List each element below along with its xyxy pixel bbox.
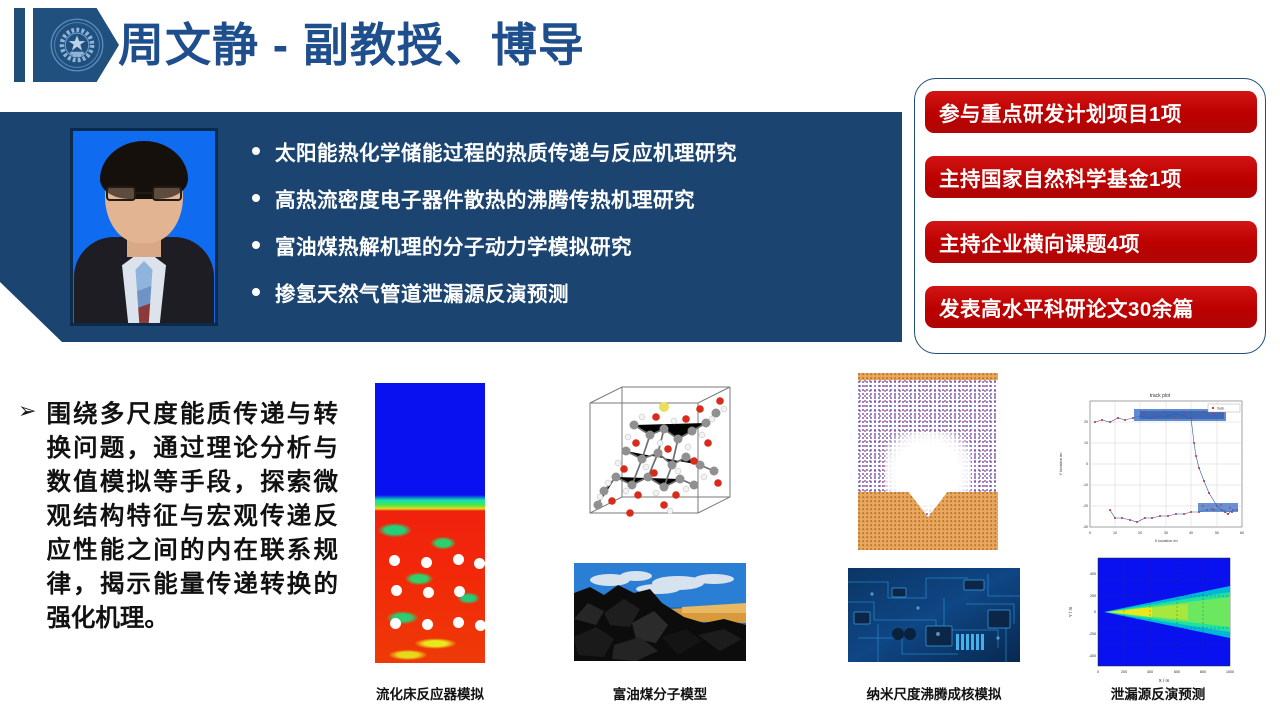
svg-text:10: 10 <box>1084 441 1088 445</box>
arrow-bullet-icon: ➢ <box>18 400 36 636</box>
svg-text:0: 0 <box>1086 462 1088 466</box>
svg-text:20: 20 <box>1138 531 1142 535</box>
figure-molecular-model <box>568 373 752 550</box>
svg-text:10: 10 <box>1113 531 1117 535</box>
avatar <box>70 128 218 326</box>
research-summary: ➢ 围绕多尺度能质传递与转换问题，通过理论分析与数值模拟等手段，探索微观结构特征… <box>18 398 338 636</box>
svg-text:1000: 1000 <box>1226 670 1234 674</box>
figure-circuit-photo <box>848 568 1020 662</box>
bullet-dot-icon <box>252 147 260 155</box>
achievements-panel: 参与重点研发计划项目1项 主持国家自然科学基金1项 主持企业横向课题4项 发表高… <box>914 78 1266 354</box>
portrait-photo <box>73 131 215 323</box>
research-directions-list: 太阳能热化学储能过程的热质传递与反应机理研究 高热流密度电子器件散热的沸腾传热机… <box>252 136 892 324</box>
header-logo-chevron <box>33 8 119 82</box>
svg-text:800: 800 <box>1200 670 1206 674</box>
svg-text:0: 0 <box>1089 531 1091 535</box>
status-badge: 发表高水平科研论文30余篇 <box>925 286 1257 328</box>
svg-text:-400: -400 <box>1089 654 1096 658</box>
svg-text:50: 50 <box>1215 531 1219 535</box>
fluidized-bed-dense-region <box>375 501 485 663</box>
particle <box>421 557 432 568</box>
slide-root: 周文静 - 副教授、博导 太阳能热化学储能过程的热质传递与反应机理研究 高热流密… <box>0 0 1280 720</box>
svg-text:200: 200 <box>1121 670 1127 674</box>
circuit-board-svg <box>848 568 1020 662</box>
nano-top-wall <box>858 373 998 380</box>
figure-fluidized-bed <box>375 383 485 663</box>
svg-text:400: 400 <box>1147 670 1153 674</box>
research-summary-text: 围绕多尺度能质传递与转换问题，通过理论分析与数值模拟等手段，探索微观结构特征与宏… <box>46 398 338 636</box>
list-item-label: 太阳能热化学储能过程的热质传递与反应机理研究 <box>275 136 737 166</box>
svg-text:30: 30 <box>1164 531 1168 535</box>
bullet-dot-icon <box>252 288 260 296</box>
figure-coal-photo <box>574 563 746 661</box>
figure-caption: 泄漏源反演预测 <box>1058 683 1258 703</box>
list-item: 掺氢天然气管道泄漏源反演预测 <box>252 277 892 307</box>
svg-text:-20: -20 <box>1083 504 1088 508</box>
chart-title: track plot <box>1150 393 1171 399</box>
coal-photo-svg <box>574 563 746 661</box>
y-axis-label: Y location /m <box>1058 452 1063 476</box>
list-item-label: 高热流密度电子器件散热的沸腾传热机理研究 <box>275 183 695 213</box>
figure-caption: 纳米尺度沸腾成核模拟 <box>834 683 1034 703</box>
chart-plume-contour: 400200 0-200 -400 0200400 6008001000 X /… <box>1048 550 1268 686</box>
particle <box>422 619 433 630</box>
figure-caption: 富油煤分子模型 <box>560 683 760 703</box>
svg-text:-10: -10 <box>1083 483 1088 487</box>
header-accent-bar <box>14 8 25 82</box>
particle <box>391 585 402 596</box>
glasses-bridge <box>136 192 152 194</box>
y-axis-label: Y / m <box>1068 607 1073 618</box>
svg-text:40: 40 <box>1189 531 1193 535</box>
status-badge: 主持企业横向课题4项 <box>925 221 1257 263</box>
x-axis-label: X location /m <box>1154 538 1178 543</box>
xjtu-university-seal-icon <box>49 17 105 73</box>
svg-text:60: 60 <box>1240 531 1244 535</box>
list-item: 太阳能热化学储能过程的热质传递与反应机理研究 <box>252 136 892 166</box>
glasses-right-lens <box>152 186 182 201</box>
particle <box>423 587 434 598</box>
figure-caption: 流化床反应器模拟 <box>330 683 530 703</box>
svg-text:600: 600 <box>1174 670 1180 674</box>
plume-contour-svg: 400200 0-200 -400 0200400 6008001000 X /… <box>1048 550 1268 686</box>
molecular-model-svg <box>568 373 752 550</box>
portrait-glasses <box>106 186 182 201</box>
track-plot-svg: track plot 2010 0-10 -20-30 01020 304050… <box>1048 385 1268 553</box>
list-item-label: 掺氢天然气管道泄漏源反演预测 <box>275 277 569 307</box>
svg-text:-30: -30 <box>1083 525 1088 529</box>
status-badge: 参与重点研发计划项目1项 <box>925 91 1257 133</box>
status-badge: 主持国家自然科学基金1项 <box>925 156 1257 198</box>
svg-text:0: 0 <box>1097 670 1099 674</box>
particle <box>475 620 485 631</box>
list-item: 高热流密度电子器件散热的沸腾传热机理研究 <box>252 183 892 213</box>
page-title: 周文静 - 副教授、博导 <box>118 10 585 80</box>
list-item: 富油煤热解机理的分子动力学模拟研究 <box>252 230 892 260</box>
svg-text:-200: -200 <box>1089 632 1096 636</box>
particle <box>453 554 464 565</box>
figure-nanoscale-boiling <box>858 373 998 550</box>
fluidized-bed-interface <box>375 495 485 511</box>
particle <box>389 555 400 566</box>
chart-legend-entry: track <box>1217 407 1224 411</box>
chart-track-plot: track plot 2010 0-10 -20-30 01020 304050… <box>1048 385 1268 553</box>
particle <box>454 586 465 597</box>
glasses-left-lens <box>106 186 136 201</box>
bullet-dot-icon <box>252 241 260 249</box>
list-item-label: 富油煤热解机理的分子动力学模拟研究 <box>275 230 632 260</box>
svg-text:400: 400 <box>1090 572 1096 576</box>
particle <box>453 617 464 628</box>
bullet-dot-icon <box>252 194 260 202</box>
svg-text:200: 200 <box>1090 594 1096 598</box>
particle <box>390 618 401 629</box>
svg-text:20: 20 <box>1084 420 1088 424</box>
svg-text:0: 0 <box>1094 610 1096 614</box>
particle <box>474 558 485 569</box>
